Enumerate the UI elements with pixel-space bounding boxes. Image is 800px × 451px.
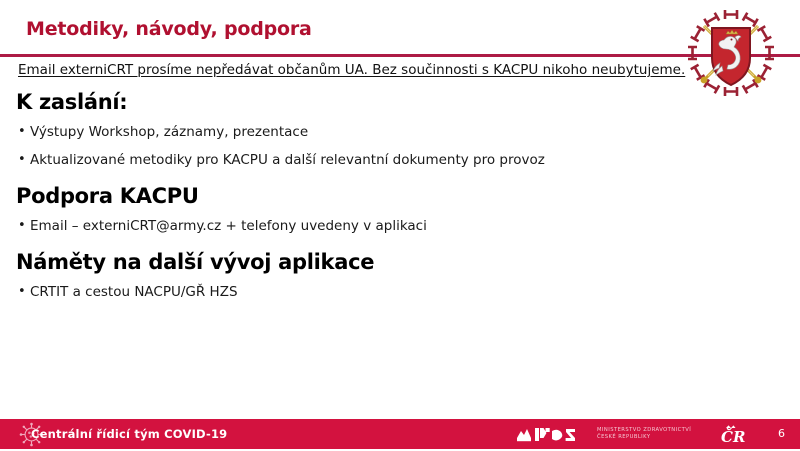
svg-text:ČR: ČR — [721, 428, 745, 446]
bullet-icon: • — [18, 150, 30, 170]
ministry-name-line1: MINISTERSTVO ZDRAVOTNICTVÍ — [597, 427, 691, 434]
list-item-label: Výstupy Workshop, záznamy, prezentace — [30, 122, 308, 142]
section-heading-podpora-kacpu: Podpora KACPU — [0, 174, 800, 212]
list-item: • CRTIT a cestou NACPU/GŘ HZS — [0, 278, 800, 306]
ministry-mark-icon — [516, 426, 586, 443]
cr-crown-icon: ČR — [718, 424, 762, 446]
ministry-name: MINISTERSTVO ZDRAVOTNICTVÍ ČESKÉ REPUBLI… — [597, 427, 691, 441]
page-number: 6 — [778, 427, 785, 440]
section-heading-k-zaslani: K zaslání: — [0, 80, 800, 118]
slide-body: Email externiCRT prosíme nepředávat obča… — [0, 60, 800, 306]
list-item-label: Email – externiCRT@army.cz + telefony uv… — [30, 216, 427, 236]
title-divider — [0, 54, 800, 57]
list-item-label: CRTIT a cestou NACPU/GŘ HZS — [30, 282, 238, 302]
ministry-name-line2: ČESKÉ REPUBLIKY — [597, 434, 691, 441]
list-item: • Aktualizované metodiky pro KACPU a dal… — [0, 146, 800, 174]
bullet-icon: • — [18, 282, 30, 302]
bullet-icon: • — [18, 122, 30, 142]
lead-note: Email externiCRT prosíme nepředávat obča… — [0, 60, 800, 80]
list-item: • Email – externiCRT@army.cz + telefony … — [0, 212, 800, 240]
footer-title: Centrální řídicí tým COVID-19 — [31, 427, 227, 441]
list-item: • Výstupy Workshop, záznamy, prezentace — [0, 118, 800, 146]
bullet-icon: • — [18, 216, 30, 236]
section-heading-namety-na-dalsi-vyvoj: Náměty na další vývoj aplikace — [0, 240, 800, 278]
list-item-label: Aktualizované metodiky pro KACPU a další… — [30, 150, 545, 170]
page-title: Metodiky, návody, podpora — [26, 18, 312, 40]
footer-bar: Centrální řídicí tým COVID-19 MINISTERST… — [0, 419, 800, 449]
army-crest-icon — [684, 6, 778, 100]
